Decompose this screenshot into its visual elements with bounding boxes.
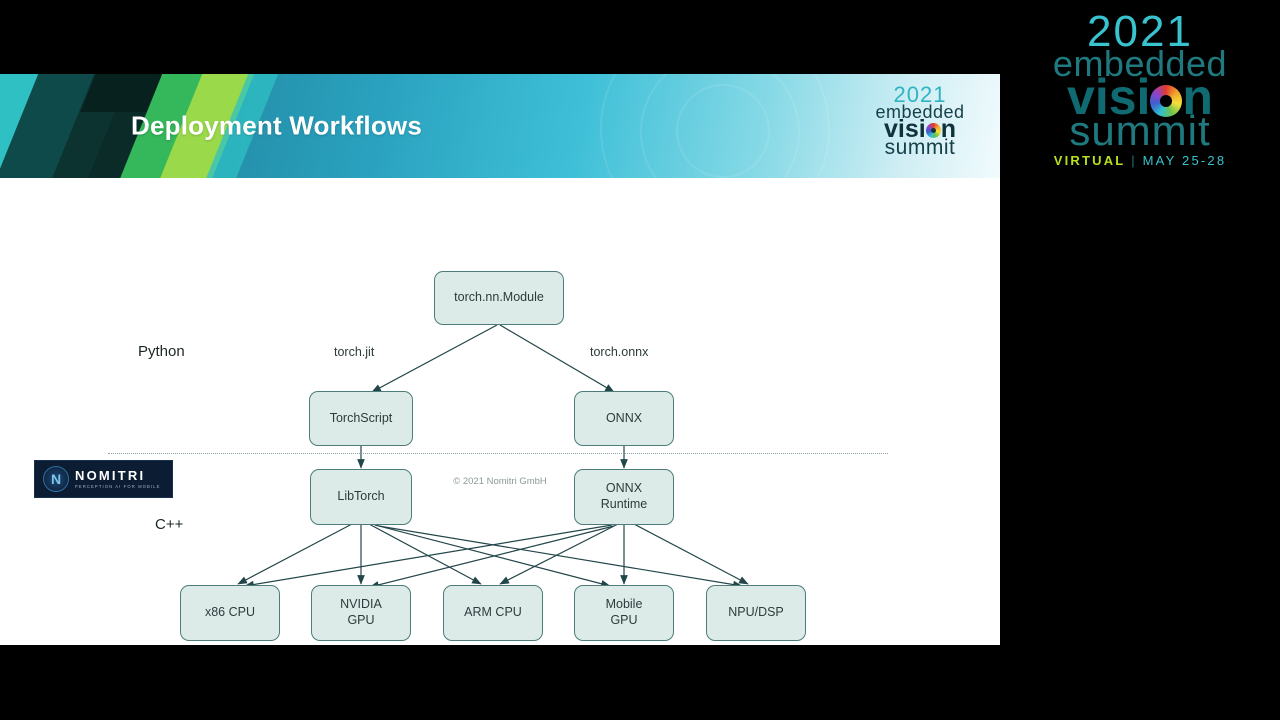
- lane-label-cpp: C++: [155, 516, 183, 533]
- nomitri-name: NOMITRI: [75, 469, 161, 482]
- nomitri-logo: NOMITRI PERCEPTION AI FOR MOBILE: [34, 460, 173, 498]
- embedded-vision-summit-logo: 2021 embedded visin summit VIRTUAL | MAY…: [1000, 10, 1280, 195]
- presentation-slide: Deployment Workflows 2021 embedded visin…: [0, 74, 1000, 645]
- lane-label-python: Python: [138, 343, 185, 360]
- node-x86-cpu[interactable]: x86 CPU: [180, 585, 280, 641]
- deployment-workflow-diagram: Python C++ torch.jit torch.onnx torch.nn…: [0, 178, 1000, 645]
- evs-logo-dates: MAY 25-28: [1143, 153, 1227, 168]
- node-torchscript[interactable]: TorchScript: [309, 391, 413, 446]
- evs-logo-subtitle: VIRTUAL | MAY 25-28: [1000, 154, 1280, 167]
- python-cpp-divider: [108, 453, 888, 454]
- node-torch-nn-module[interactable]: torch.nn.Module: [434, 271, 564, 325]
- edge-label-torch-jit: torch.jit: [334, 345, 374, 359]
- banner-summit-logo: 2021 embedded visin summit: [862, 84, 978, 170]
- diagram-connectors: [0, 178, 1000, 645]
- right-sidebar: 2021 embedded visin summit VIRTUAL | MAY…: [1000, 0, 1280, 720]
- node-npu-dsp[interactable]: NPU/DSP: [706, 585, 806, 641]
- nomitri-tagline: PERCEPTION AI FOR MOBILE: [75, 485, 161, 489]
- banner-logo-vision: visin: [884, 117, 956, 142]
- rainbow-circle-icon: [926, 123, 941, 138]
- banner-logo-vision-tail: n: [941, 115, 956, 143]
- banner-logo-vision-head: visi: [884, 115, 926, 143]
- node-onnx[interactable]: ONNX: [574, 391, 674, 446]
- nomitri-mark-icon: [43, 466, 69, 492]
- evs-logo-summit: summit: [1000, 110, 1280, 152]
- nomitri-wordmark: NOMITRI PERCEPTION AI FOR MOBILE: [75, 469, 161, 489]
- edge-label-torch-onnx: torch.onnx: [590, 345, 648, 359]
- evs-logo-virtual: VIRTUAL: [1054, 153, 1126, 168]
- evs-logo-separator: |: [1131, 153, 1137, 168]
- node-nvidia-gpu[interactable]: NVIDIA GPU: [311, 585, 411, 641]
- video-frame: Deployment Workflows 2021 embedded visin…: [0, 0, 1280, 720]
- slide-title: Deployment Workflows: [131, 111, 422, 142]
- node-mobile-gpu[interactable]: Mobile GPU: [574, 585, 674, 641]
- slide-header-banner: Deployment Workflows 2021 embedded visin…: [0, 74, 1000, 178]
- banner-watermark: [676, 84, 770, 178]
- node-arm-cpu[interactable]: ARM CPU: [443, 585, 543, 641]
